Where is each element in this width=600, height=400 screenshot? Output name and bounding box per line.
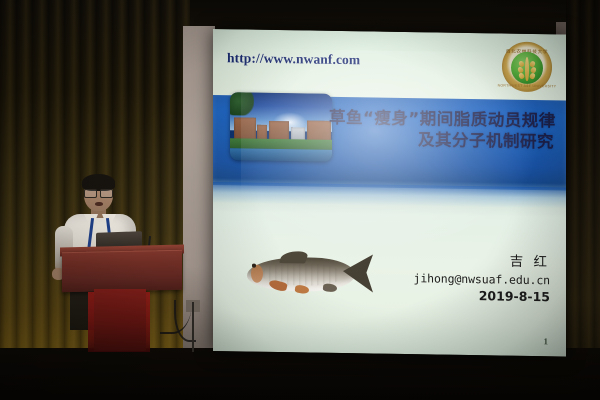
author-name: 吉 红 <box>414 248 550 270</box>
grass-carp-photo <box>235 244 375 308</box>
presentation-date: 2019-8-15 <box>414 287 550 304</box>
author-block: 吉 红 jihong@nwsuaf.edu.cn 2019-8-15 <box>414 248 550 304</box>
stage-floor <box>0 348 600 400</box>
university-emblem-icon: 西北农林科技大学 NORTHWEST A&F UNIVERSITY <box>502 42 552 93</box>
campus-building <box>234 117 256 139</box>
equipment-stand <box>186 300 200 352</box>
presentation-slide: http://www.nwanf.com 西北农林科技大学 <box>213 29 566 357</box>
fish-eye <box>252 264 256 268</box>
slide-title-line-1: 草鱼“瘦身”期间脂质动员规律 <box>329 107 554 132</box>
campus-building <box>307 120 331 140</box>
stage-curtain-right <box>566 0 600 400</box>
conference-photo: http://www.nwanf.com 西北农林科技大学 <box>0 0 600 400</box>
fish-gill-cover <box>251 265 263 283</box>
eyeglasses-icon <box>84 189 113 196</box>
slide-page-number: 1 <box>544 336 549 346</box>
presenter-mouth <box>95 202 103 206</box>
projection-screen: http://www.nwanf.com 西北农林科技大学 <box>213 29 566 357</box>
emblem-arc-text-bottom: NORTHWEST A&F UNIVERSITY <box>498 83 557 88</box>
lectern-base <box>94 289 146 351</box>
slide-title-line-2: 及其分子机制研究 <box>329 128 554 153</box>
fish-dorsal-fin <box>279 251 309 263</box>
wheat-ear-icon <box>517 56 537 80</box>
campus-tree <box>230 92 254 115</box>
fish-caudal-fin <box>343 254 373 292</box>
slide-title: 草鱼“瘦身”期间脂质动员规律 及其分子机制研究 <box>329 107 554 153</box>
slide-url-text: http://www.nwanf.com <box>227 50 360 68</box>
campus-building <box>269 121 289 140</box>
title-banner-fade <box>213 182 566 218</box>
author-email: jihong@nwsuaf.edu.cn <box>414 271 550 287</box>
emblem-green-disc <box>511 52 543 85</box>
campus-photo <box>230 92 332 162</box>
campus-water <box>230 149 332 162</box>
